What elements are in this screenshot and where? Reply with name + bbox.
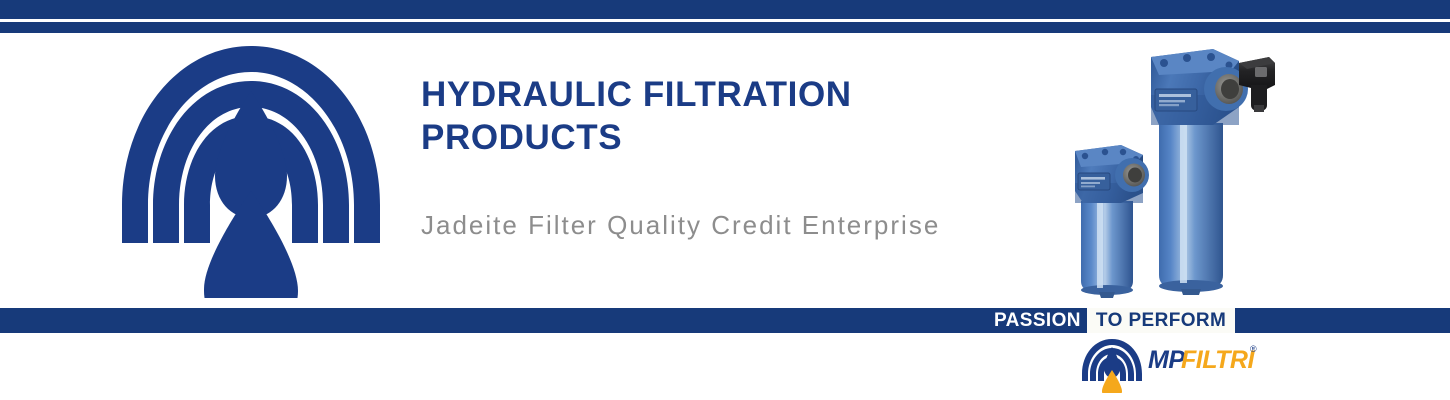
banner-root: HYDRAULIC FILTRATION PRODUCTS Jadeite Fi… (0, 0, 1450, 400)
top-blue-rule (0, 0, 1450, 19)
secondary-blue-rule (0, 22, 1450, 33)
small-pressure-filter (1075, 145, 1149, 298)
brand-logo (120, 43, 382, 298)
mpfiltri-wordmark-mp: MP (1148, 346, 1185, 374)
tagline-passion: PASSION (988, 308, 1087, 333)
tagline-to-perform: TO PERFORM (1087, 308, 1235, 333)
mpfiltri-logo: MP FILTRI ® (1078, 337, 1262, 393)
tagline: PASSION TO PERFORM (988, 308, 1235, 333)
electrical-connector (1239, 57, 1275, 112)
mpfiltri-trademark: ® (1250, 344, 1257, 354)
mpfiltri-wordmark-filtri: FILTRI (1181, 346, 1255, 374)
product-photo (1063, 33, 1313, 308)
headline-block: HYDRAULIC FILTRATION PRODUCTS (421, 73, 1041, 159)
page-title: HYDRAULIC FILTRATION PRODUCTS (421, 73, 1041, 159)
large-pressure-filter (1151, 49, 1275, 295)
page-subtitle: Jadeite Filter Quality Credit Enterprise (421, 210, 940, 241)
mpfiltri-orange-droplet (1102, 370, 1122, 393)
